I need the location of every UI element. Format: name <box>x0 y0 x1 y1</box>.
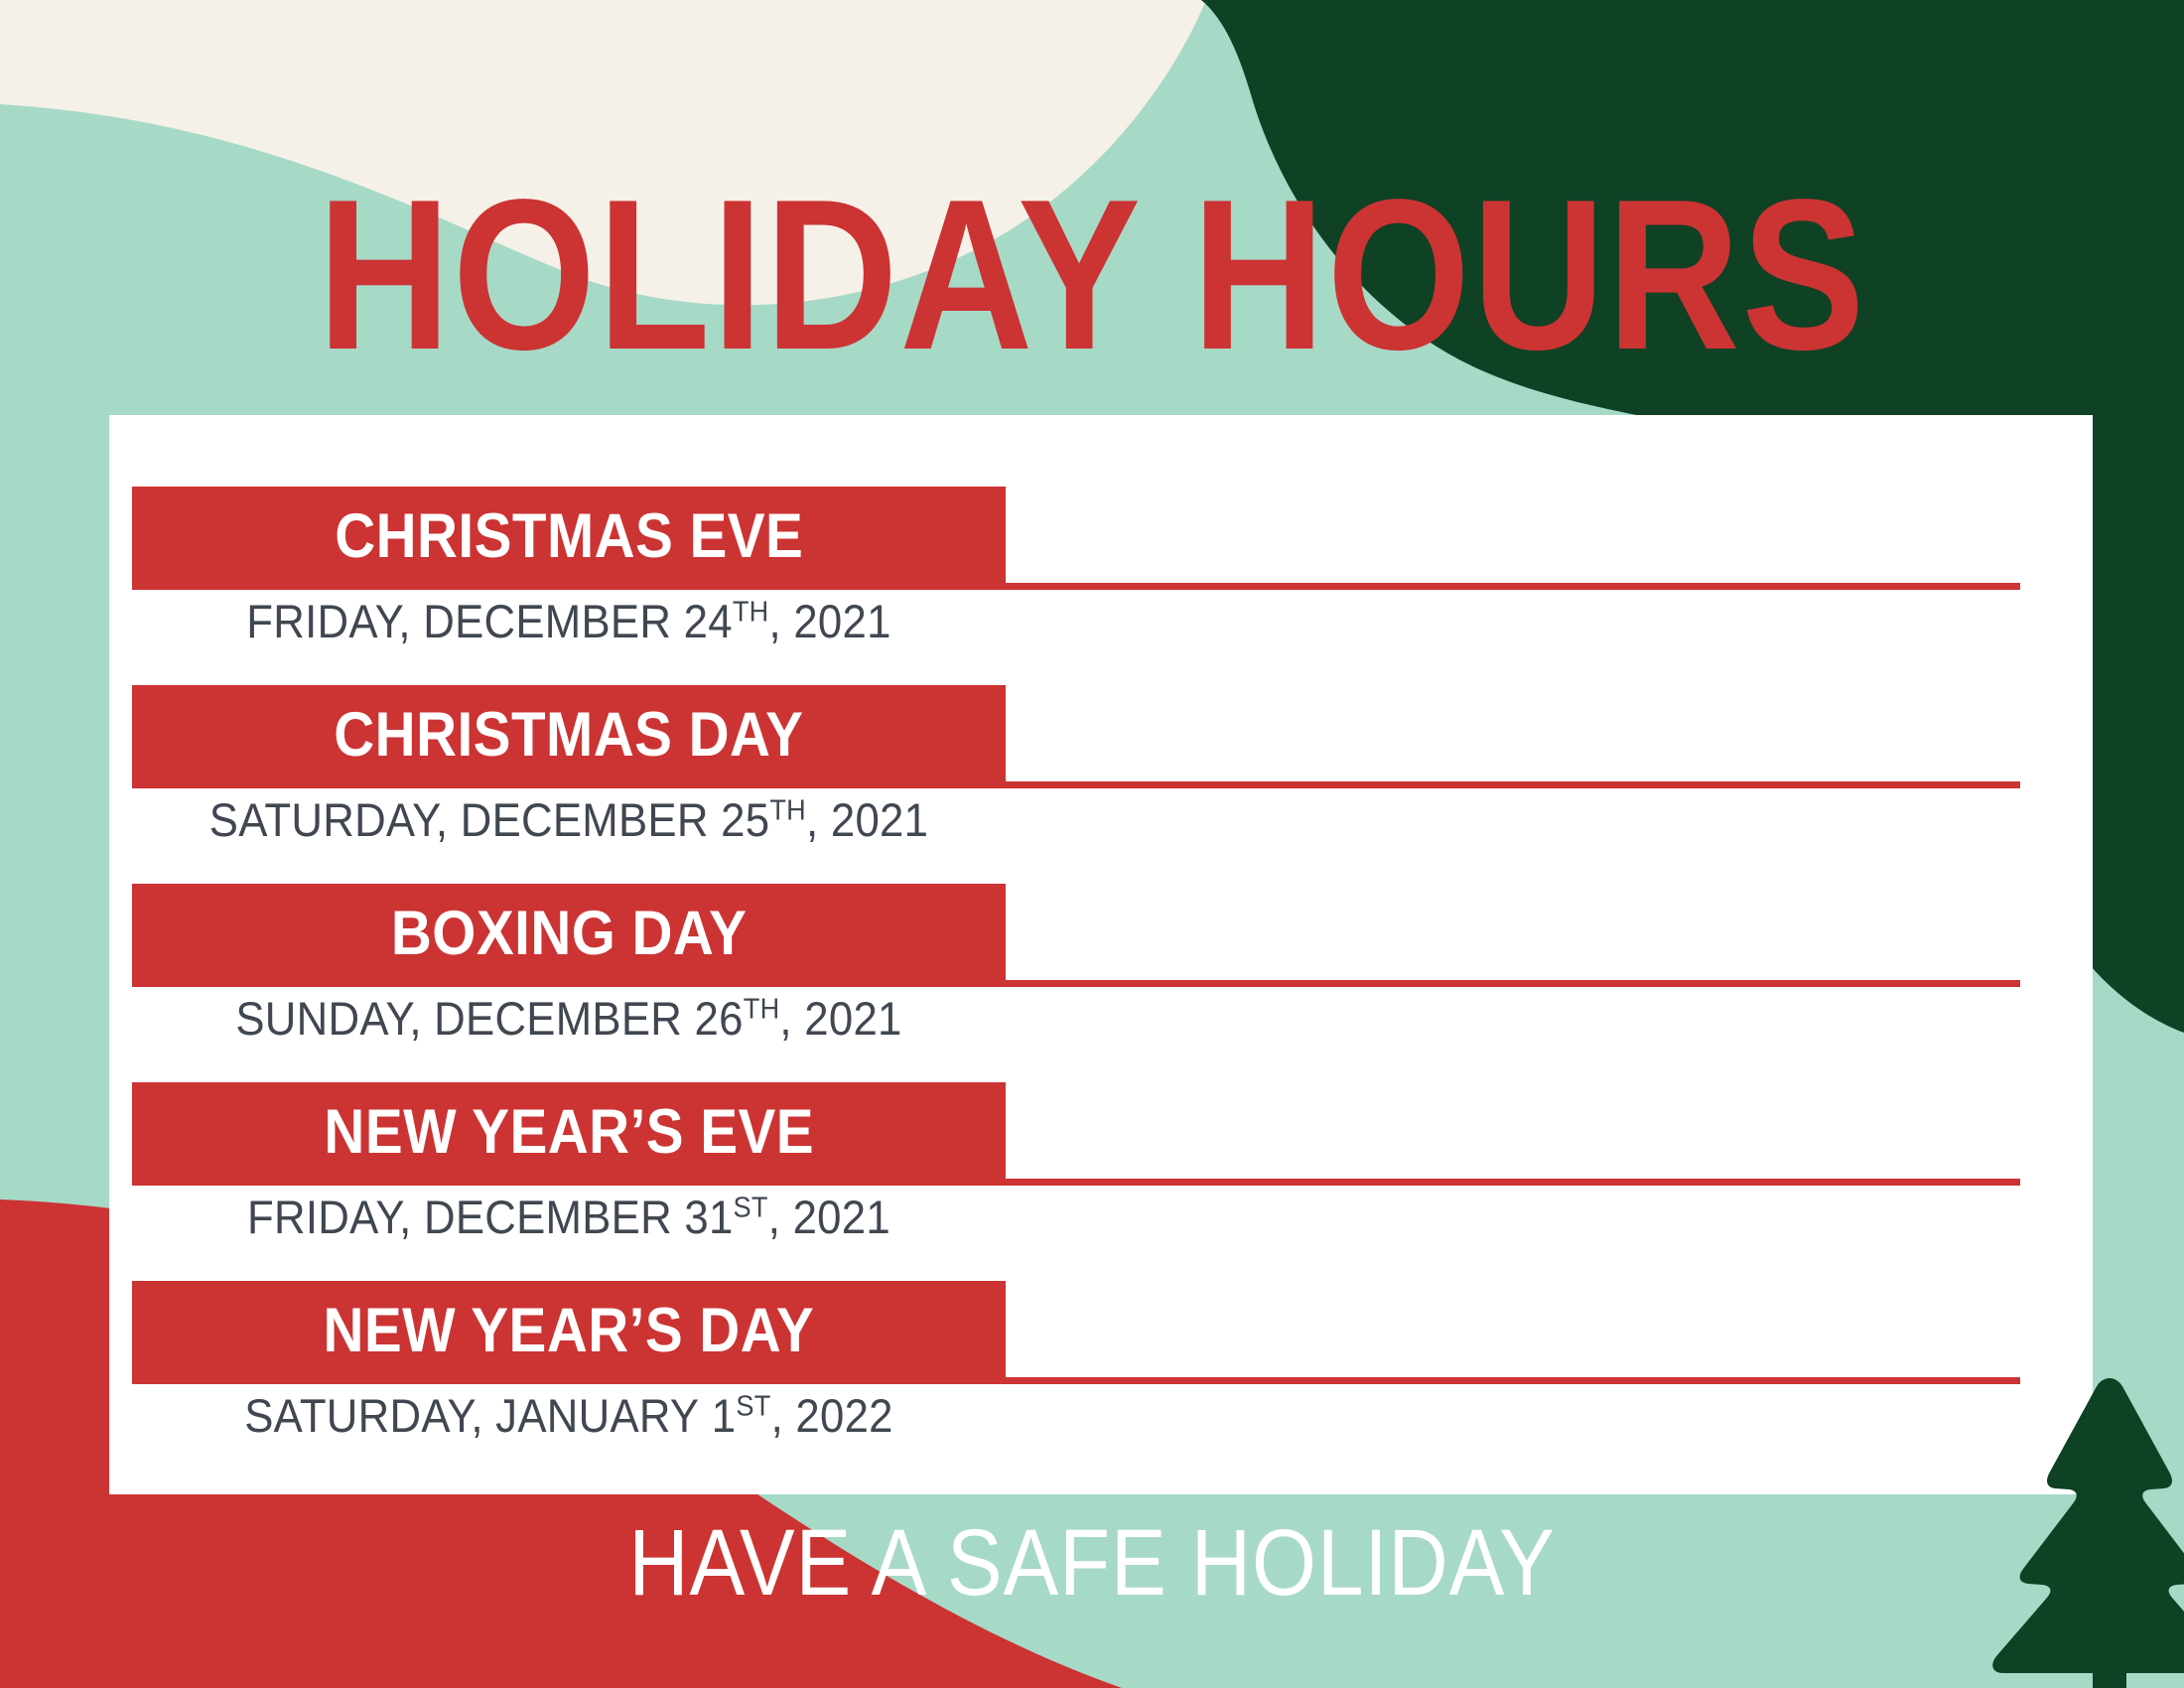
date-day: 31 <box>684 1191 733 1243</box>
date-ordinal: TH <box>733 596 769 628</box>
tagline: HAVE A SAFE HOLIDAY <box>131 1516 2053 1611</box>
holiday-date: SUNDAY, DECEMBER 26TH, 2021 <box>163 995 975 1042</box>
holiday-name: NEW YEAR’S EVE <box>324 1101 814 1164</box>
date-year: 2021 <box>793 1191 890 1243</box>
holiday-banner: CHRISTMAS EVE <box>132 487 1006 590</box>
date-weekday: FRIDAY, <box>246 595 411 647</box>
date-year: 2021 <box>804 992 901 1045</box>
date-month: DECEMBER <box>424 1191 672 1243</box>
date-month: DECEMBER <box>423 595 671 647</box>
date-month: JANUARY <box>495 1389 699 1442</box>
date-ordinal: ST <box>736 1390 770 1422</box>
holiday-date: FRIDAY, DECEMBER 24TH, 2021 <box>163 598 975 644</box>
hours-write-in-line <box>1006 1377 2020 1384</box>
holiday-banner: BOXING DAY <box>132 884 1006 987</box>
date-day: 26 <box>695 992 744 1045</box>
hours-write-in-line <box>1006 980 2020 987</box>
holiday-date: SATURDAY, DECEMBER 25TH, 2021 <box>163 796 975 843</box>
hours-write-in-line <box>1006 1179 2020 1186</box>
holiday-banner: NEW YEAR’S DAY <box>132 1281 1006 1384</box>
holiday-name: CHRISTMAS EVE <box>335 505 803 568</box>
holiday-name: CHRISTMAS DAY <box>334 704 803 767</box>
date-day: 1 <box>712 1389 737 1442</box>
date-day: 24 <box>684 595 733 647</box>
holiday-hours-poster: HOLIDAY HOURS CHRISTMAS EVE FRIDAY, DECE… <box>0 0 2184 1688</box>
date-ordinal: TH <box>744 993 780 1025</box>
date-year: 2022 <box>795 1389 892 1442</box>
date-weekday: SUNDAY, <box>235 992 421 1045</box>
holiday-name: BOXING DAY <box>391 903 747 965</box>
date-month: DECEMBER <box>434 992 682 1045</box>
holiday-banner: CHRISTMAS DAY <box>132 685 1006 788</box>
holiday-name: NEW YEAR’S DAY <box>324 1300 815 1362</box>
holiday-date: SATURDAY, JANUARY 1ST, 2022 <box>163 1392 975 1439</box>
date-weekday: SATURDAY, <box>244 1389 483 1442</box>
holiday-date: FRIDAY, DECEMBER 31ST, 2021 <box>163 1194 975 1240</box>
date-day: 25 <box>721 793 769 846</box>
date-ordinal: ST <box>734 1192 768 1223</box>
date-weekday: SATURDAY, <box>209 793 449 846</box>
date-weekday: FRIDAY, <box>247 1191 412 1243</box>
date-ordinal: TH <box>769 794 806 826</box>
page-title: HOLIDAY HOURS <box>153 167 2031 381</box>
hours-write-in-line <box>1006 781 2020 788</box>
hours-card: CHRISTMAS EVE FRIDAY, DECEMBER 24TH, 202… <box>109 415 2093 1494</box>
holiday-banner: NEW YEAR’S EVE <box>132 1082 1006 1186</box>
date-month: DECEMBER <box>461 793 709 846</box>
christmas-tree-icon <box>1976 1370 2184 1688</box>
date-year: 2021 <box>793 595 890 647</box>
hours-write-in-line <box>1006 583 2020 590</box>
date-year: 2021 <box>831 793 928 846</box>
